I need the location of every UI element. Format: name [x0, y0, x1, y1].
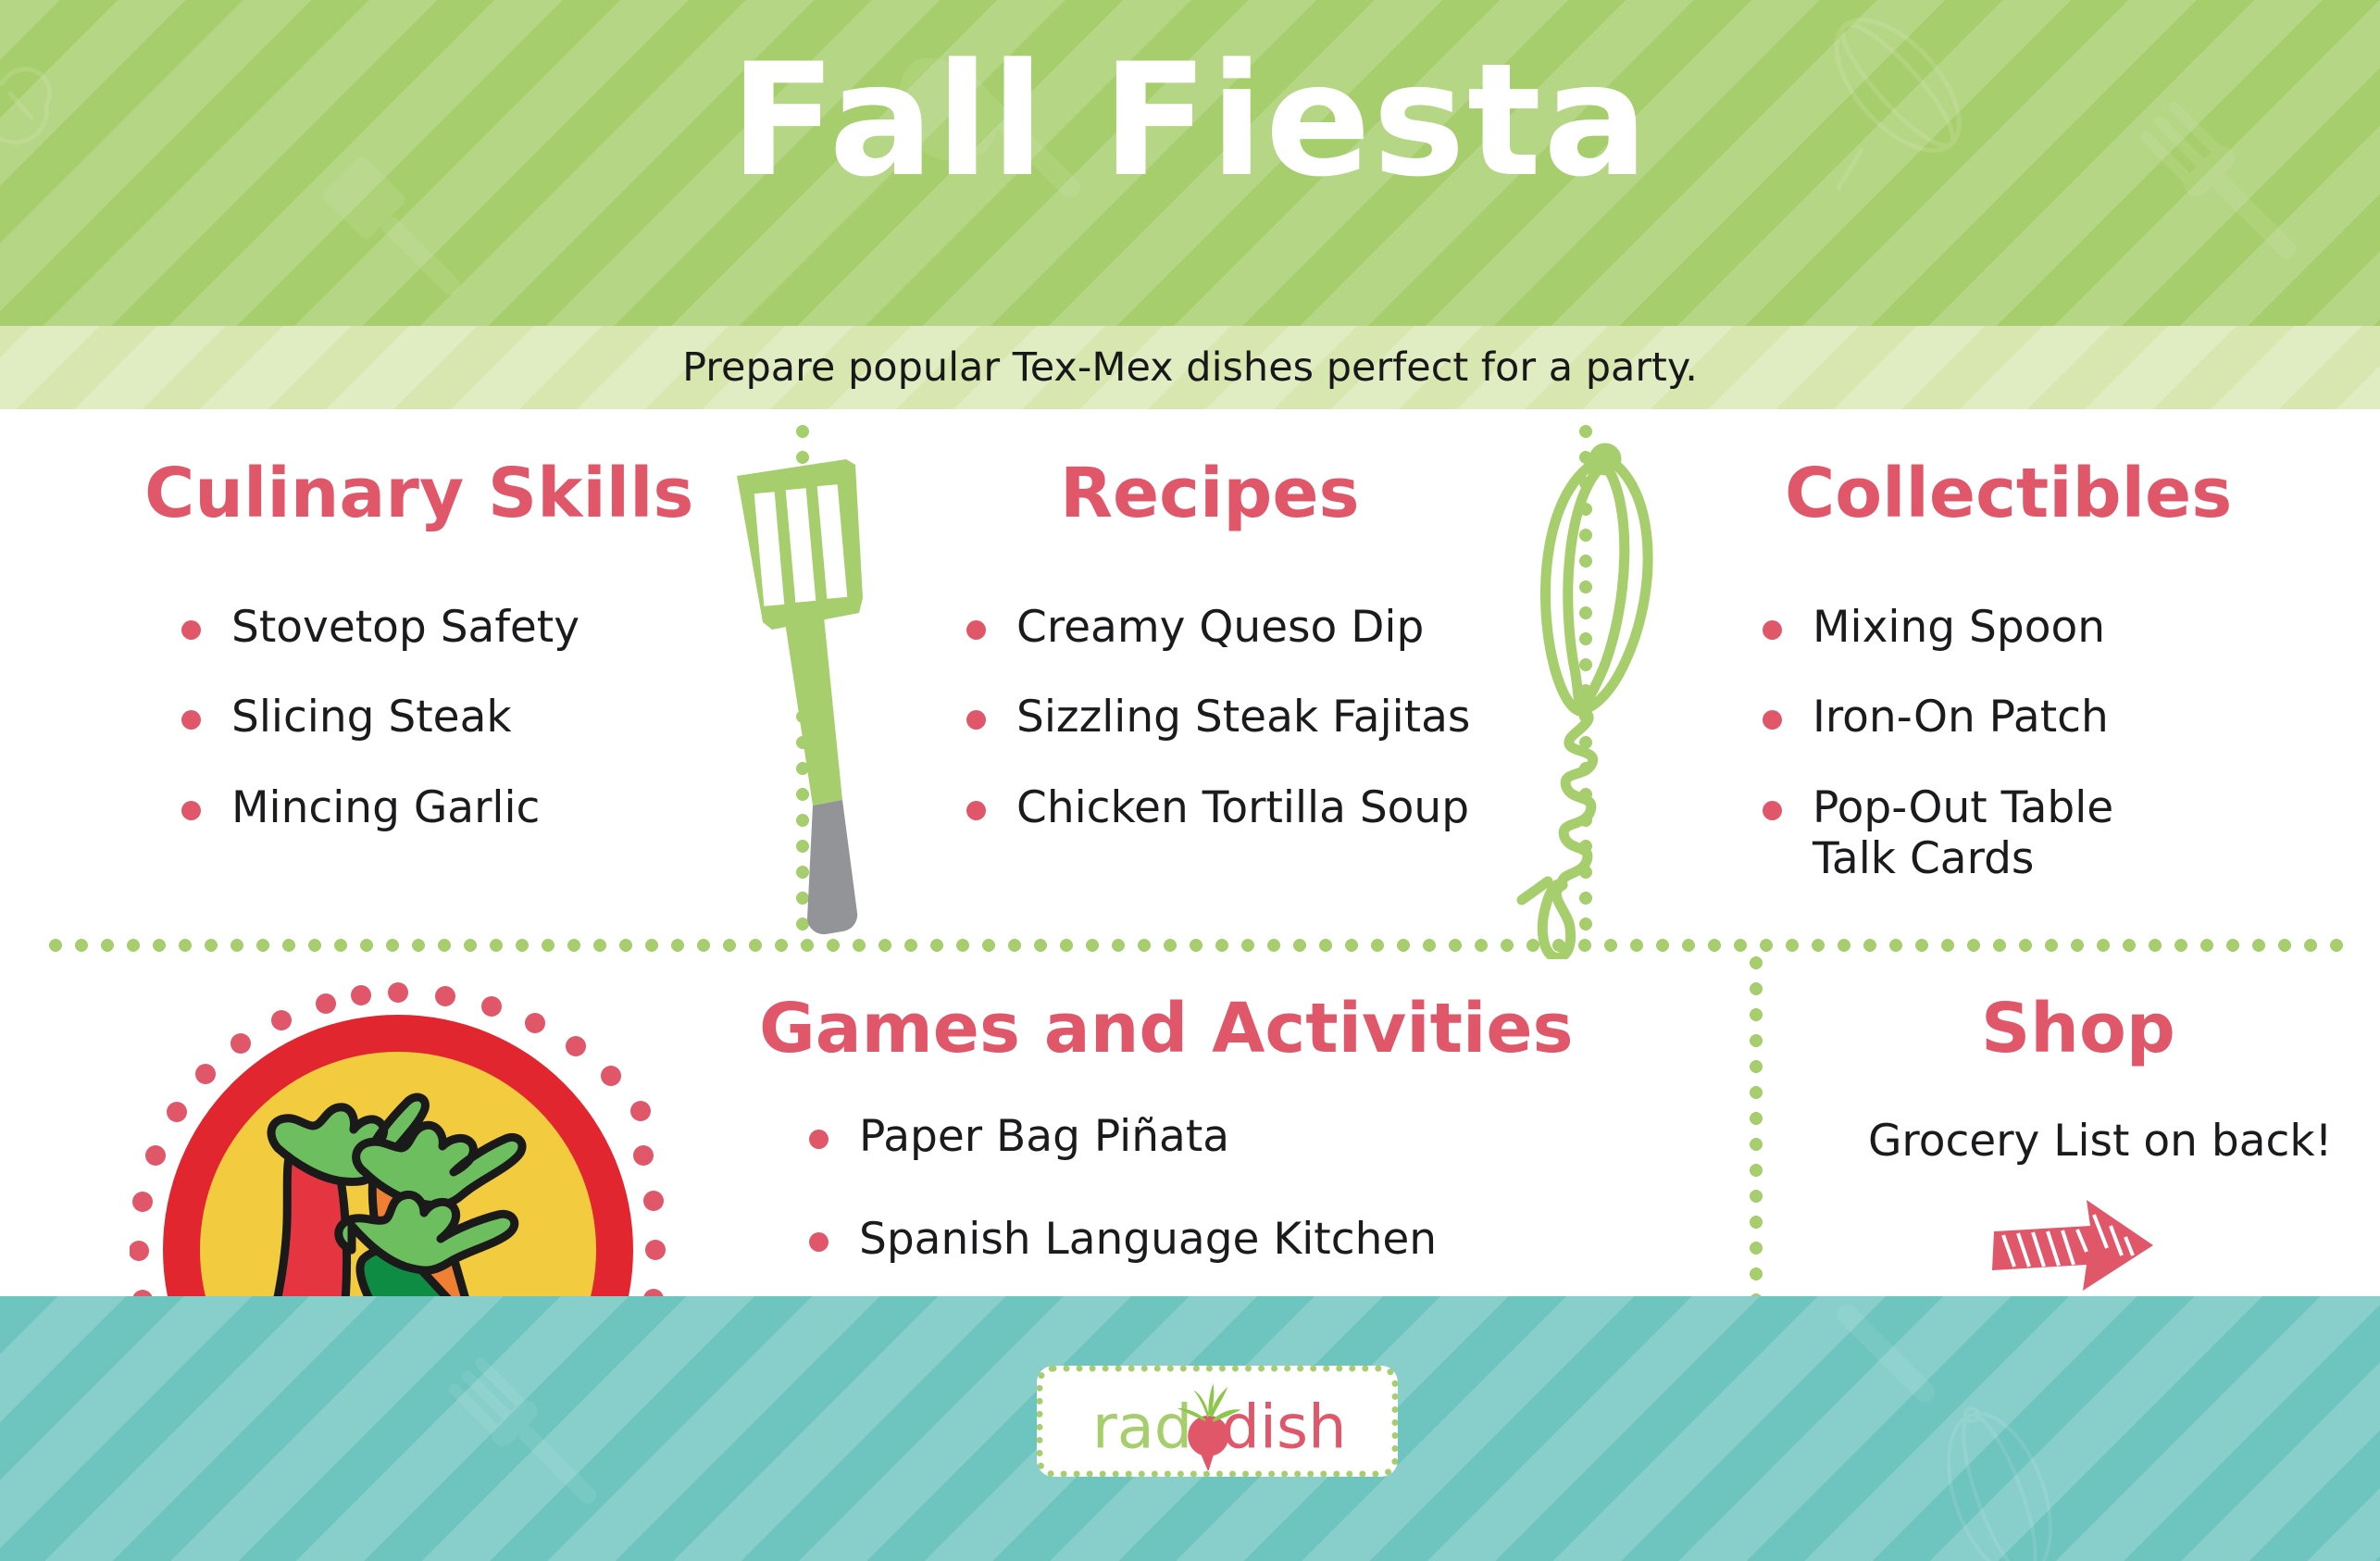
- header-band: Fall Fiesta: [0, 0, 2380, 326]
- whisk-illustration-icon: [1494, 431, 1670, 959]
- subtitle-band: Prepare popular Tex-Mex dishes perfect f…: [0, 326, 2380, 409]
- right-arrow-sketch-icon: [1990, 1194, 2157, 1296]
- raddish-logo-icon: rad dish: [1043, 1372, 1391, 1470]
- list-collectibles: Mixing Spoon Iron-On Patch Pop-Out Table…: [1750, 602, 2268, 924]
- list-item: Creamy Queso Dip: [953, 602, 1564, 653]
- divider-horizontal: [43, 939, 2348, 952]
- heading-shop: Shop: [1981, 994, 2175, 1063]
- list-item: Mixing Spoon: [1750, 602, 2268, 653]
- heading-recipes: Recipes: [1060, 459, 1360, 528]
- list-item: Spanish Language Kitchen: [796, 1214, 1629, 1265]
- heading-collectibles: Collectibles: [1785, 459, 2232, 528]
- spatula-illustration-icon: [728, 431, 894, 950]
- heading-culinary-skills: Culinary Skills: [144, 459, 693, 528]
- heading-games-and-activities: Games and Activities: [759, 994, 1574, 1063]
- raddish-logo-card: rad dish: [1037, 1366, 1398, 1477]
- infographic-page: Fall Fiesta Prepare popular Tex-Mex dish…: [0, 0, 2380, 1561]
- list-culinary-skills: Stovetop Safety Slicing Steak Mincing Ga…: [168, 602, 742, 872]
- list-item: Sizzling Steak Fajitas: [953, 692, 1564, 743]
- list-item: Chicken Tortilla Soup: [953, 782, 1564, 833]
- divider-vertical-bottom: [1750, 950, 1763, 1302]
- list-item: Iron-On Patch: [1750, 692, 2268, 743]
- page-title: Fall Fiesta: [0, 43, 2380, 198]
- logo-text-dish: dish: [1221, 1392, 1346, 1462]
- list-item: Pop-Out Table Talk Cards: [1750, 782, 2174, 885]
- list-recipes: Creamy Queso Dip Sizzling Steak Fajitas …: [953, 602, 1564, 872]
- list-games-and-activities: Paper Bag Piñata Spanish Language Kitche…: [796, 1111, 1629, 1305]
- list-item: Stovetop Safety: [168, 602, 742, 653]
- logo-text-rad: rad: [1092, 1392, 1192, 1462]
- list-item: Mincing Garlic: [168, 782, 742, 833]
- shop-note: Grocery List on back!: [1868, 1116, 2332, 1167]
- list-item: Slicing Steak: [168, 692, 742, 743]
- list-item: Paper Bag Piñata: [796, 1111, 1629, 1162]
- page-subtitle: Prepare popular Tex-Mex dishes perfect f…: [0, 326, 2380, 409]
